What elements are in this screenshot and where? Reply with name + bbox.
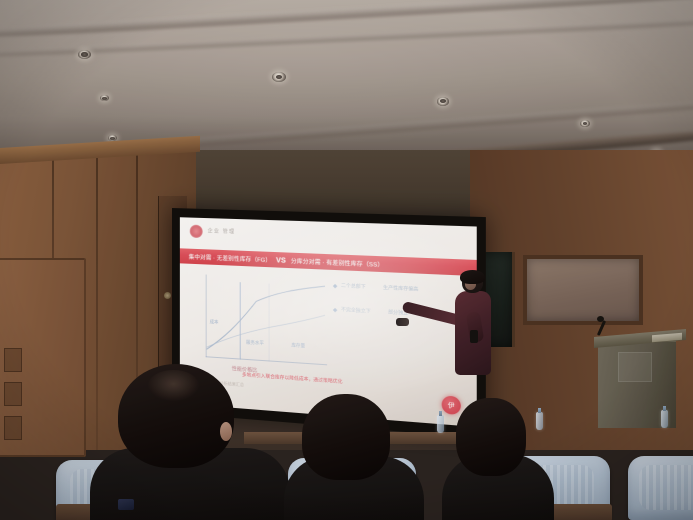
scalp-highlight <box>148 370 199 401</box>
head <box>118 364 234 468</box>
ear <box>220 422 232 441</box>
diamond-bullet-icon <box>333 284 338 288</box>
side-door[interactable] <box>0 258 86 457</box>
audience-member-front-left <box>104 364 264 520</box>
ceiling-downlight-icon <box>580 120 590 127</box>
presenter-hair <box>460 270 485 284</box>
door-panel-lite <box>4 348 22 372</box>
lanyard-badge <box>118 499 134 510</box>
ceiling-downlight-icon <box>100 95 109 101</box>
ceiling-downlight-icon <box>272 72 286 82</box>
head <box>302 394 390 480</box>
slide-title-bar: 集中对需 · 无差别性库存（FG） VS 分库分对需 · 有差别性库存（SS） <box>180 248 477 276</box>
slide-title-left: 集中对需 · 无差别性库存（FG） <box>189 254 271 263</box>
water-bottle <box>437 415 444 433</box>
wall-panel-seam <box>96 150 98 450</box>
diamond-bullet-icon <box>333 308 338 312</box>
podium-front-panel <box>618 352 652 382</box>
ceiling-downlight-icon <box>437 97 449 106</box>
slide-logo-text: 企业 管理 <box>208 227 236 235</box>
slide-title-vs: VS <box>273 257 289 265</box>
chart-note-service: 服务水平 <box>246 340 264 347</box>
water-bottle <box>661 410 668 428</box>
door-handle[interactable] <box>164 292 171 299</box>
presenter-clicker <box>470 330 478 343</box>
bullet-value: 生产性库存偏高 <box>383 285 418 293</box>
chart-note-inventory: 库存量 <box>291 342 305 349</box>
audience-member-right <box>448 398 544 520</box>
audience-member-center <box>292 394 412 520</box>
slide-title: 集中对需 · 无差别性库存（FG） VS 分库分对需 · 有差别性库存（SS） <box>180 252 384 269</box>
microphone-icon <box>597 316 604 322</box>
lecture-hall-photo: 企业 管理 集中对需 · 无差别性库存（FG） VS 分库分对需 · 有差别性库… <box>0 0 693 520</box>
bullet-label: 二个总部下 <box>341 283 366 291</box>
presenter-hand <box>396 318 409 326</box>
seat <box>628 456 693 520</box>
slide-logo-icon <box>190 225 203 239</box>
slide-chart: 成本 服务水平 库存量 性能价格比 <box>196 274 327 376</box>
chart-note-cost: 成本 <box>210 319 219 326</box>
presenter <box>438 272 508 390</box>
whiteboard <box>523 255 643 325</box>
door-panel-lite <box>4 382 22 406</box>
head <box>456 398 526 476</box>
bullet-label: 不完全独立下 <box>341 307 371 315</box>
slide-title-right: 分库分对需 · 有差别性库存（SS） <box>291 258 384 268</box>
ceiling-downlight-icon <box>78 50 91 59</box>
